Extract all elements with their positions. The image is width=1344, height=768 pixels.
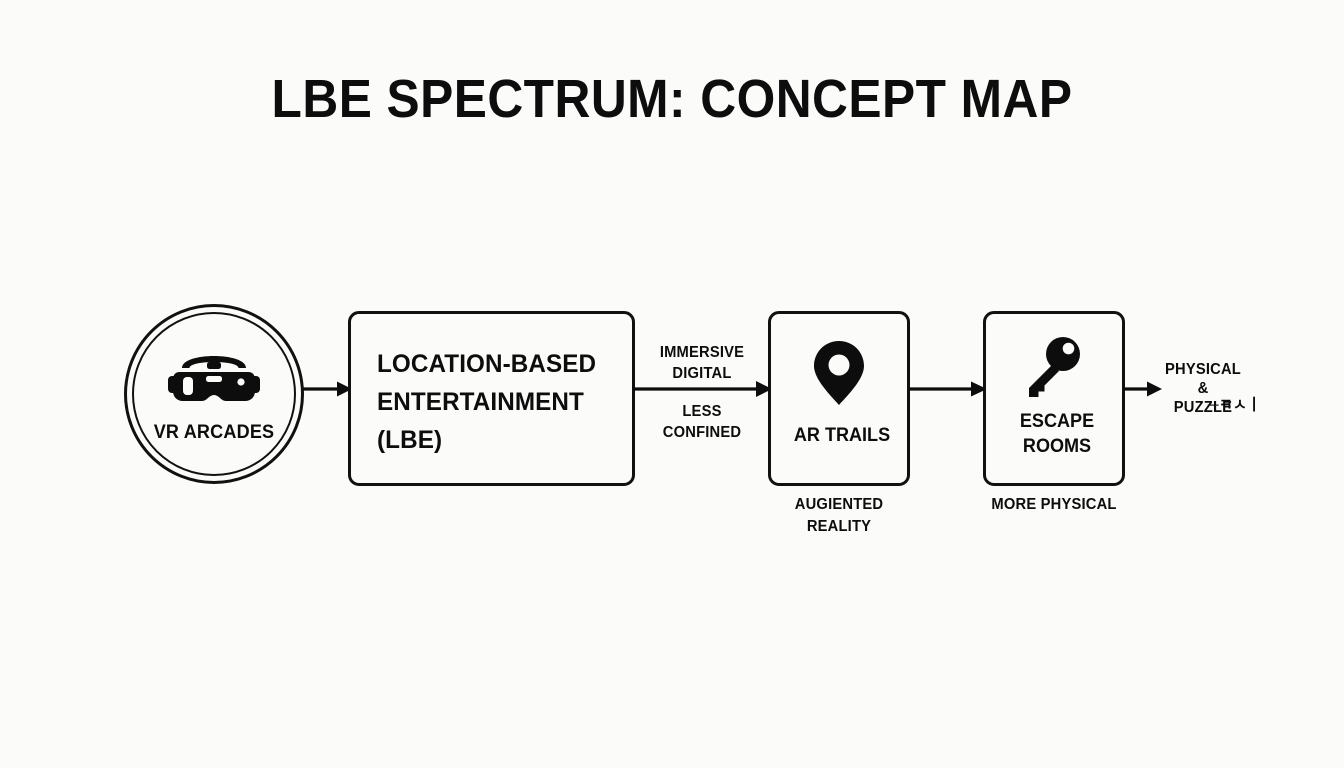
edge-label-less-confined-line1: LESS [636,401,769,422]
node-lbe-label-line3: (LBE) [377,421,610,459]
node-ar-trails-caption-line1: AUGIENTED [756,494,921,516]
node-vr-arcades[interactable]: VR ARCADES [124,304,304,484]
node-ar-trails[interactable]: AR TRAILS [768,311,910,486]
concept-map-canvas: LBE SPECTRUM: CONCEPT MAP VR ARCADES LOC… [0,0,1344,768]
map-pin-icon [813,340,865,406]
node-lbe-label: LOCATION-BASED ENTERTAINMENT (LBE) [377,345,610,459]
key-icon [1026,336,1082,398]
arrow-lbe-to-ar [633,378,773,400]
edge-label-physical-puzzle: PHYSICAL & PUZZLE ─ㅋㅅㅣ [1151,360,1256,417]
node-escape-rooms-label-line1: ESCAPE [990,409,1125,434]
arrow-ar-to-escape [908,378,988,400]
node-escape-rooms[interactable]: ESCAPE ROOMS [983,311,1125,486]
node-escape-rooms-label: ESCAPE ROOMS [990,409,1125,459]
node-lbe-label-line1: LOCATION-BASED [377,345,610,383]
node-ar-trails-caption-line2: REALITY [756,516,921,538]
node-escape-rooms-label-line2: ROOMS [990,434,1125,459]
edge-label-immersive-digital-line1: IMMERSIVE [636,342,769,363]
edge-label-physical-puzzle-line1: PHYSICAL [1151,360,1256,379]
glyph-artifact: ─ㅋㅅㅣ [1208,396,1261,415]
edge-label-less-confined: LESS CONFINED [636,401,769,443]
vr-headset-icon [162,346,266,408]
node-vr-arcades-label: VR ARCADES [129,422,300,444]
node-lbe-label-line2: ENTERTAINMENT [377,383,610,421]
page-title: LBE SPECTRUM: CONCEPT MAP [54,68,1290,130]
node-escape-rooms-caption: MORE PHYSICAL [970,496,1137,514]
node-ar-trails-caption: AUGIENTED REALITY [756,494,921,538]
node-lbe[interactable]: LOCATION-BASED ENTERTAINMENT (LBE) [348,311,635,486]
node-ar-trails-label: AR TRAILS [775,424,910,448]
edge-label-less-confined-line2: CONFINED [636,422,769,443]
arrow-vr-to-lbe [303,378,353,400]
